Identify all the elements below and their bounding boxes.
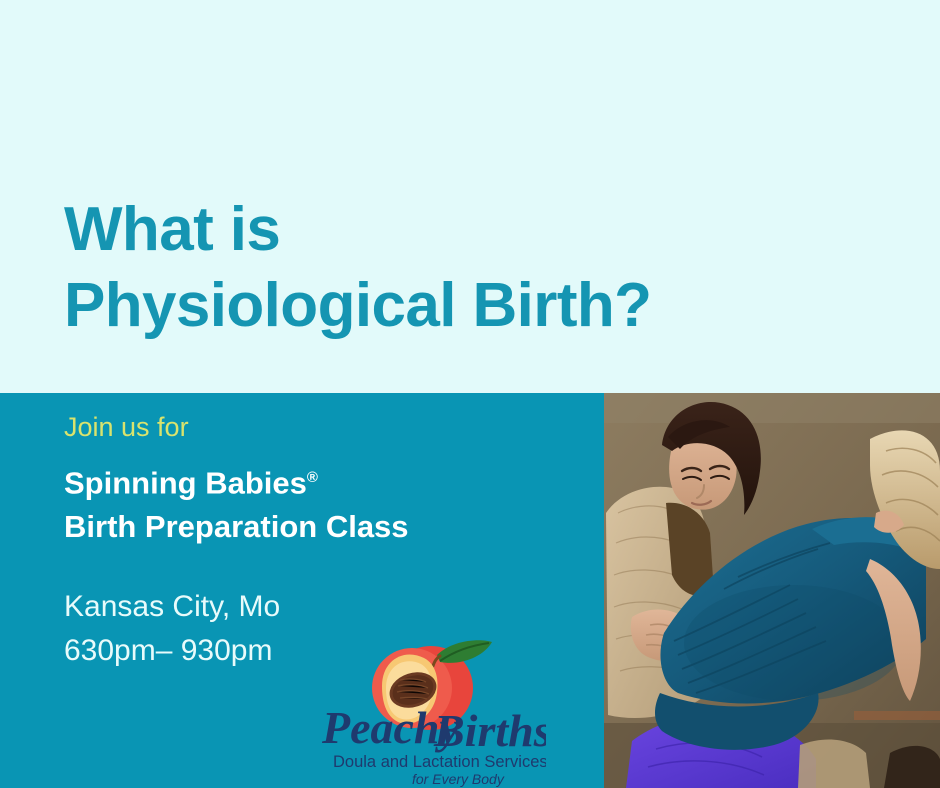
peach-icon: Peachy Births Doula and Lactation Servic…: [316, 636, 546, 788]
class-name-line-1: Spinning Babies®: [64, 456, 584, 505]
class-name-line-2: Birth Preparation Class: [64, 505, 584, 549]
logo-tagline-text: Doula and Lactation Services: [333, 753, 546, 771]
class-name-text: Spinning Babies: [64, 465, 307, 500]
logo-subtagline-text: for Every Body: [412, 771, 505, 787]
event-flyer: What is Physiological Birth? Join us for…: [0, 0, 940, 788]
page-title: What is Physiological Birth?: [64, 192, 884, 344]
doula-support-photo: [604, 393, 940, 788]
headline-panel: What is Physiological Birth?: [0, 0, 940, 393]
event-photo: [604, 393, 940, 788]
invitation-block: Join us for Spinning Babies® Birth Prepa…: [64, 408, 584, 549]
headline-line-1: What is: [64, 192, 884, 268]
event-location: Kansas City, Mo: [64, 585, 484, 629]
registered-trademark-icon: ®: [307, 469, 318, 486]
logo-brand-text-2: Births: [433, 705, 546, 756]
headline-line-2: Physiological Birth?: [64, 268, 884, 344]
join-us-label: Join us for: [64, 408, 584, 446]
peachy-births-logo: Peachy Births Doula and Lactation Servic…: [316, 636, 546, 788]
